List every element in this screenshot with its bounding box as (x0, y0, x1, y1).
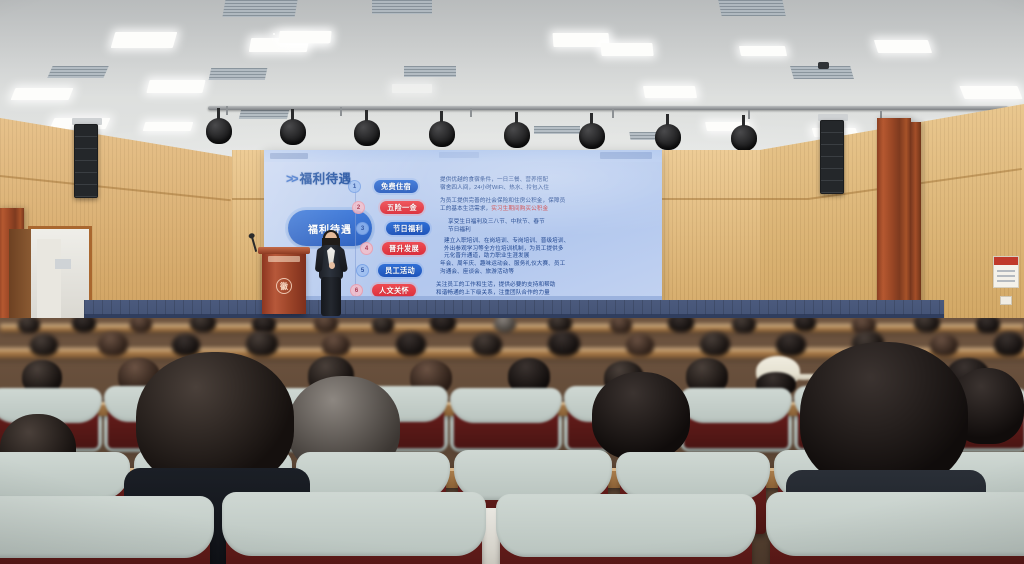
auditorium-seat (684, 392, 788, 448)
audience-head (930, 334, 958, 356)
auditorium-seat-foreground (770, 496, 1024, 564)
audience-head (396, 332, 426, 356)
audience-head-foreground (800, 342, 968, 490)
audience-head (626, 334, 654, 356)
audience-head (98, 332, 128, 356)
audience-head (190, 318, 216, 332)
par-can-stage-light (206, 118, 232, 144)
audience-head (130, 318, 152, 332)
podium-emblem-text: 徽 (280, 281, 288, 292)
ceiling-panel-light (111, 32, 178, 48)
ceiling-air-vent (223, 0, 298, 17)
audience-head (548, 331, 580, 356)
wall-placard (1000, 296, 1012, 305)
podium-top (258, 247, 310, 254)
audience-head (794, 318, 816, 331)
podium: 徽 (262, 252, 306, 314)
audience-head (976, 318, 1000, 333)
audience-head (776, 333, 806, 356)
line-array-speaker (74, 124, 98, 198)
ceiling-air-vent (209, 68, 268, 80)
podium-nameplate (268, 256, 300, 262)
doorway-interior (37, 239, 61, 319)
auditorium-photo: >>福利待遇 福利待遇 1 免费住宿 提供优越的食宿条件，一日三餐、营养搭配 宿… (0, 0, 1024, 564)
audience-head (732, 318, 756, 333)
presenter (316, 232, 346, 316)
line-array-speaker (820, 120, 844, 194)
auditorium-seat-foreground (0, 500, 210, 564)
audience-seating (0, 318, 1024, 564)
audience-head (18, 318, 40, 333)
auditorium-seat-foreground (226, 496, 482, 564)
poster-text-line (997, 270, 1015, 272)
truss-bracket (612, 109, 614, 118)
podium-emblem: 徽 (276, 278, 292, 294)
truss-bracket (226, 106, 228, 115)
ceiling-air-vent (239, 110, 289, 119)
stage-front-band (84, 300, 944, 315)
audience-head (494, 318, 516, 332)
ceiling-air-vent (372, 0, 432, 14)
audience-head (72, 318, 96, 332)
ceiling-panel-light (278, 31, 331, 43)
par-can-stage-light (579, 123, 605, 149)
audience-head (30, 334, 58, 356)
poster-header (994, 257, 1018, 265)
audience-head (472, 333, 502, 356)
ceiling-panel-light (143, 122, 194, 131)
wood-column (877, 118, 911, 326)
ceiling-panel-light (11, 88, 74, 100)
truss-bracket (748, 110, 750, 119)
wood-column (911, 122, 921, 324)
wall-poster (993, 256, 1019, 288)
ceiling-panel-light (146, 80, 205, 93)
audience-head (592, 372, 690, 460)
audience-head (700, 332, 730, 356)
ceiling-air-vent (47, 66, 108, 78)
audience-head (914, 318, 940, 332)
ceiling-panel-light (874, 40, 932, 53)
poster-text-line (997, 280, 1015, 282)
lighting-truss (208, 106, 1008, 110)
audience-head (246, 331, 278, 356)
ceiling-panel-light (959, 86, 1022, 99)
ceiling-panel-light (739, 46, 787, 56)
ceiling-panel-light (273, 33, 275, 35)
audience-head (372, 318, 394, 333)
ceiling-air-vent (404, 66, 456, 77)
audience-head (430, 318, 456, 332)
audience-head (994, 332, 1024, 356)
presenter-hand (329, 262, 335, 269)
truss-bracket (340, 107, 342, 116)
auditorium-seat-foreground (500, 498, 752, 564)
audience-head (610, 318, 632, 333)
audience-head (668, 318, 694, 332)
ceiling-air-vent (534, 126, 580, 134)
ceiling-panel-light (600, 43, 653, 56)
par-can-stage-light (280, 119, 306, 145)
audience-head (314, 318, 338, 332)
ceiling-panel-light (643, 86, 697, 98)
audience-head (548, 318, 572, 332)
par-can-stage-light (354, 120, 380, 146)
ceiling-air-vent (718, 0, 785, 16)
auditorium-seat (454, 392, 558, 448)
ceiling-projector-mount (818, 62, 829, 69)
par-can-stage-light (429, 121, 455, 147)
truss-bracket (470, 108, 472, 117)
side-doorway (28, 226, 92, 332)
par-can-stage-light (504, 122, 530, 148)
audience-head (322, 334, 350, 356)
poster-text-line (997, 275, 1015, 277)
presenter-trousers (321, 277, 341, 316)
par-can-stage-light (731, 125, 757, 151)
ceiling-panel-light (392, 84, 432, 93)
par-can-stage-light (655, 124, 681, 150)
corridor-sign (55, 259, 71, 269)
